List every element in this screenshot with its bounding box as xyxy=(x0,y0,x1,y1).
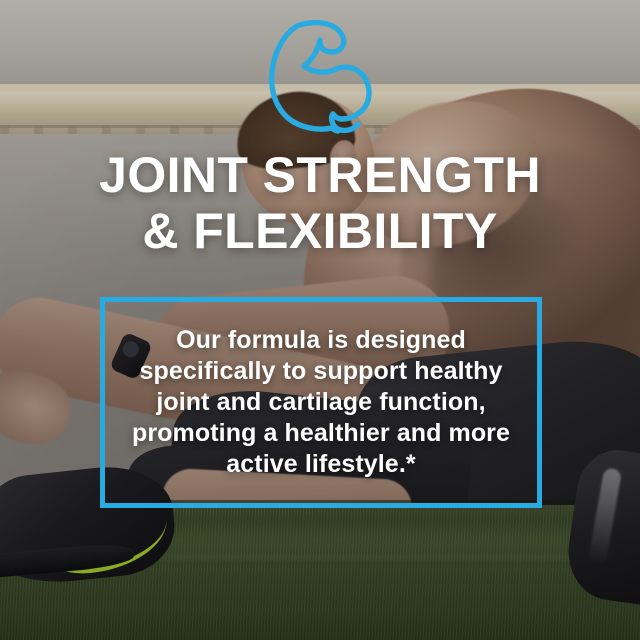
flexing-bicep-icon xyxy=(262,18,380,134)
product-benefit-poster: JOINT STRENGTH & FLEXIBILITY Our formula… xyxy=(0,0,640,640)
headline-line-1: JOINT STRENGTH xyxy=(99,147,541,203)
callout-line-3: joint and cartilage function, xyxy=(132,387,510,418)
callout-text: Our formula is designed specifically to … xyxy=(105,302,537,503)
callout-box: Our formula is designed specifically to … xyxy=(100,297,542,508)
overlay-content: JOINT STRENGTH & FLEXIBILITY Our formula… xyxy=(0,0,640,640)
headline-line-2: & FLEXIBILITY xyxy=(0,206,640,256)
headline: JOINT STRENGTH & FLEXIBILITY xyxy=(0,150,640,256)
callout-line-2: specifically to support healthy xyxy=(132,356,510,387)
callout-line-4: promoting a healthier and more xyxy=(132,418,510,449)
callout-line-1: Our formula is designed xyxy=(132,325,510,356)
callout-line-5: active lifestyle.* xyxy=(132,449,510,480)
